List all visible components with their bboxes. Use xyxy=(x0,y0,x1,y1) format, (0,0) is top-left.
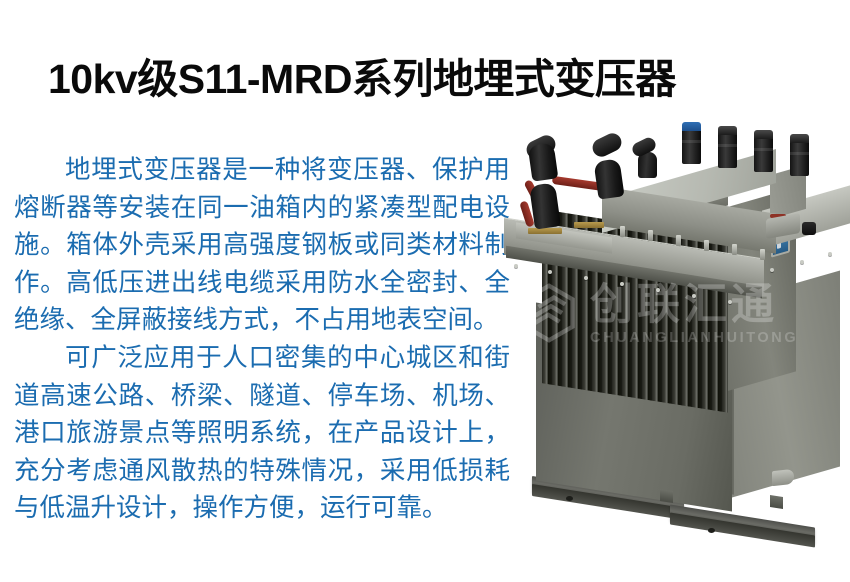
lv-bushing xyxy=(682,126,701,164)
lid-clamp xyxy=(648,230,653,241)
skid-hole xyxy=(566,496,573,501)
drain-valve xyxy=(772,469,794,486)
deck-bolt xyxy=(828,252,832,256)
deck-bolt xyxy=(514,264,518,268)
hv-bracket xyxy=(574,222,604,228)
lid-clamp xyxy=(620,226,625,237)
lid-clamp xyxy=(732,244,737,255)
lv-bushing-cap xyxy=(754,130,773,139)
description-block: 地埋式变压器是一种将变压器、保护用熔断器等安装在同一油箱内的紧凑型配电设施。箱体… xyxy=(14,152,510,528)
hv-elbow-head xyxy=(590,130,625,159)
description-paragraph-2: 可广泛应用于人口密集的中心城区和街道高速公路、桥梁、隧道、停车场、机场、港口旅游… xyxy=(14,340,510,528)
deck-bolt xyxy=(728,300,732,304)
deck-bolt xyxy=(770,268,774,272)
lv-bushing xyxy=(790,138,809,176)
mounting-foot xyxy=(770,495,783,509)
skid-hole xyxy=(708,528,715,533)
deck-bolt xyxy=(584,276,588,280)
deck-bolt xyxy=(800,260,804,264)
lv-bushing-cap xyxy=(790,134,809,143)
hv-bracket xyxy=(528,228,562,234)
deck-bolt xyxy=(656,288,660,292)
description-paragraph-1: 地埋式变压器是一种将变压器、保护用熔断器等安装在同一油箱内的紧凑型配电设施。箱体… xyxy=(14,152,510,340)
deck-bolt xyxy=(620,282,624,286)
mounting-foot xyxy=(660,489,673,503)
lid-clamp xyxy=(676,235,681,246)
lv-bushing xyxy=(718,130,737,168)
page-title: 10kv级S11-MRD系列地埋式变压器 xyxy=(48,50,808,108)
valve-cap xyxy=(802,222,816,235)
hv-elbow-connector xyxy=(593,158,624,199)
product-photo: 创联汇通 CHUANGLIANHUITONG xyxy=(470,118,850,582)
lid-clamp xyxy=(704,240,709,251)
lv-bushing-cap xyxy=(718,126,737,135)
lid-clamp xyxy=(760,249,765,260)
product-banner: 10kv级S11-MRD系列地埋式变压器 地埋式变压器是一种将变压器、保护用熔断… xyxy=(0,0,850,582)
deck-bolt xyxy=(692,294,696,298)
lv-bushing xyxy=(754,134,773,172)
deck-bolt xyxy=(548,270,552,274)
hv-elbow-connector xyxy=(529,182,561,229)
lv-bushing-cap-blue xyxy=(682,122,701,131)
